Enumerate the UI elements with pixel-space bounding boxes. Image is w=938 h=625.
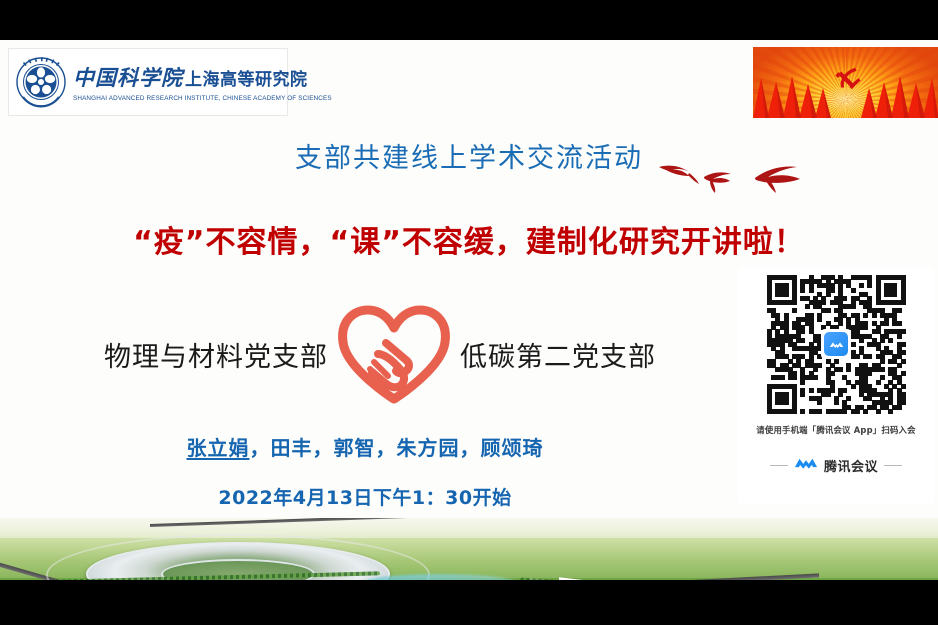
heart-handshake-icon xyxy=(334,302,454,406)
main-headline: “疫”不容情，“课”不容缓，建制化研究开讲啦！ xyxy=(0,217,938,261)
section-title: 支部共建线上学术交流活动 xyxy=(0,136,938,175)
red-flag-spikes xyxy=(753,72,938,118)
letterbox-bottom-bar xyxy=(0,580,938,625)
tencent-meeting-logo-icon xyxy=(794,455,818,475)
meeting-qr-panel: 请使用手机端「腾讯会议 App」扫码入会 腾讯会议 xyxy=(738,267,934,503)
presenter-lead: 张立娟 xyxy=(187,436,250,460)
brand-rule-right xyxy=(884,465,902,466)
qr-caption: 请使用手机端「腾讯会议 App」扫码入会 xyxy=(738,424,934,436)
logo-cn-sub: 上海高等研究院 xyxy=(185,65,308,90)
tencent-meeting-brand: 腾讯会议 xyxy=(738,455,934,475)
institute-logo-block: 中国科学院 上海高等研究院 SHANGHAI ADVANCED RESEARCH… xyxy=(8,48,288,116)
poster-canvas: 中国科学院 上海高等研究院 SHANGHAI ADVANCED RESEARCH… xyxy=(0,40,938,580)
logo-cn-main: 中国科学院 xyxy=(73,62,183,92)
presenter-rest: ，田丰，郭智，朱方园，顾颂琦 xyxy=(250,436,544,460)
cas-emblem-icon xyxy=(15,56,67,108)
logo-english-name: SHANGHAI ADVANCED RESEARCH INSTITUTE, CH… xyxy=(73,95,332,102)
event-datetime: 2022年4月13日下午1：30开始 xyxy=(0,483,730,510)
institute-logo-text: 中国科学院 上海高等研究院 SHANGHAI ADVANCED RESEARCH… xyxy=(73,62,327,102)
branch-left-label: 物理与材料党支部 xyxy=(104,335,328,374)
cpc-party-flag-banner xyxy=(753,47,938,118)
letterbox-top-bar xyxy=(0,0,938,40)
meeting-qr-code[interactable] xyxy=(767,275,905,413)
presentation-slide: 中国科学院 上海高等研究院 SHANGHAI ADVANCED RESEARCH… xyxy=(0,0,938,625)
tencent-meeting-brand-name: 腾讯会议 xyxy=(824,456,878,475)
presenter-list: 张立娟，田丰，郭智，朱方园，顾颂琦 xyxy=(0,432,730,461)
branch-row: 物理与材料党支部 低碳第二党支部 xyxy=(0,302,760,406)
branch-right-label: 低碳第二党支部 xyxy=(460,335,656,374)
brand-rule-left xyxy=(770,465,788,466)
tencent-meeting-icon xyxy=(821,329,851,359)
ssrf-aerial-campus-photo xyxy=(0,518,938,580)
